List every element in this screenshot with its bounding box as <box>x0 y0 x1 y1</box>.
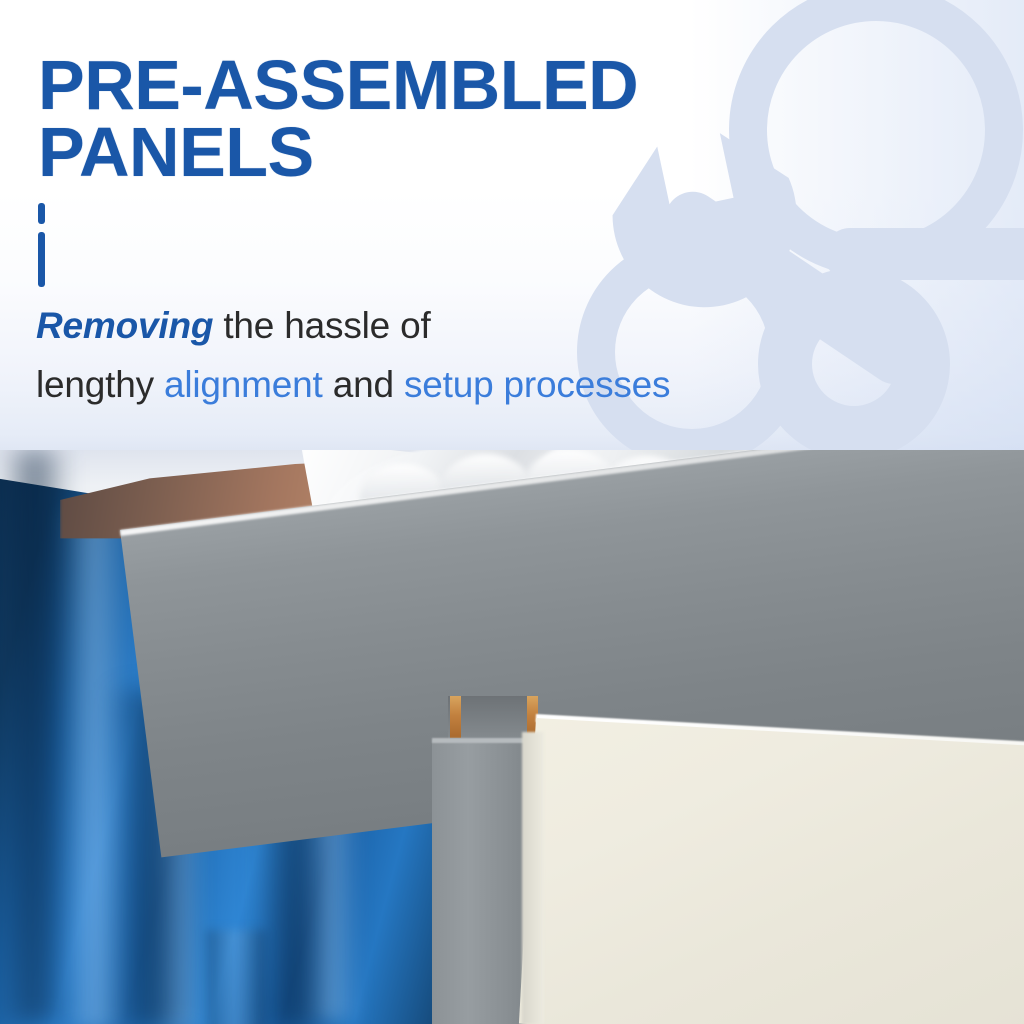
subtitle-line-2: lengthy alignment and setup processes <box>36 355 896 414</box>
subtitle-line-2-a: lengthy <box>36 364 164 405</box>
subtitle-line-2-b: and <box>323 364 404 405</box>
shirt-shadow <box>0 450 70 1024</box>
accent-dot <box>38 203 45 224</box>
subtitle-emphasis: Removing <box>36 305 213 346</box>
header-band: PRE-ASSEMBLED PANELS Removing the hassle… <box>0 0 1024 452</box>
subtitle-line-1: Removing the hassle of <box>36 296 896 355</box>
marketing-slide: PRE-ASSEMBLED PANELS Removing the hassle… <box>0 0 1024 1024</box>
hero-photo <box>0 450 1024 1024</box>
subtitle-line-1-rest: the hassle of <box>213 305 430 346</box>
accent-bar <box>38 232 45 287</box>
subtitle-highlight-setup: setup processes <box>404 364 670 405</box>
cream-panel-face <box>519 718 1024 1024</box>
cream-panel-side <box>522 732 544 1024</box>
accent-mark <box>38 203 45 287</box>
page-title: PRE-ASSEMBLED PANELS <box>38 52 838 186</box>
gray-panel-edge-top <box>432 738 536 743</box>
subtitle: Removing the hassle of lengthy alignment… <box>36 296 896 414</box>
subtitle-highlight-alignment: alignment <box>164 364 323 405</box>
copper-clip <box>450 696 461 738</box>
